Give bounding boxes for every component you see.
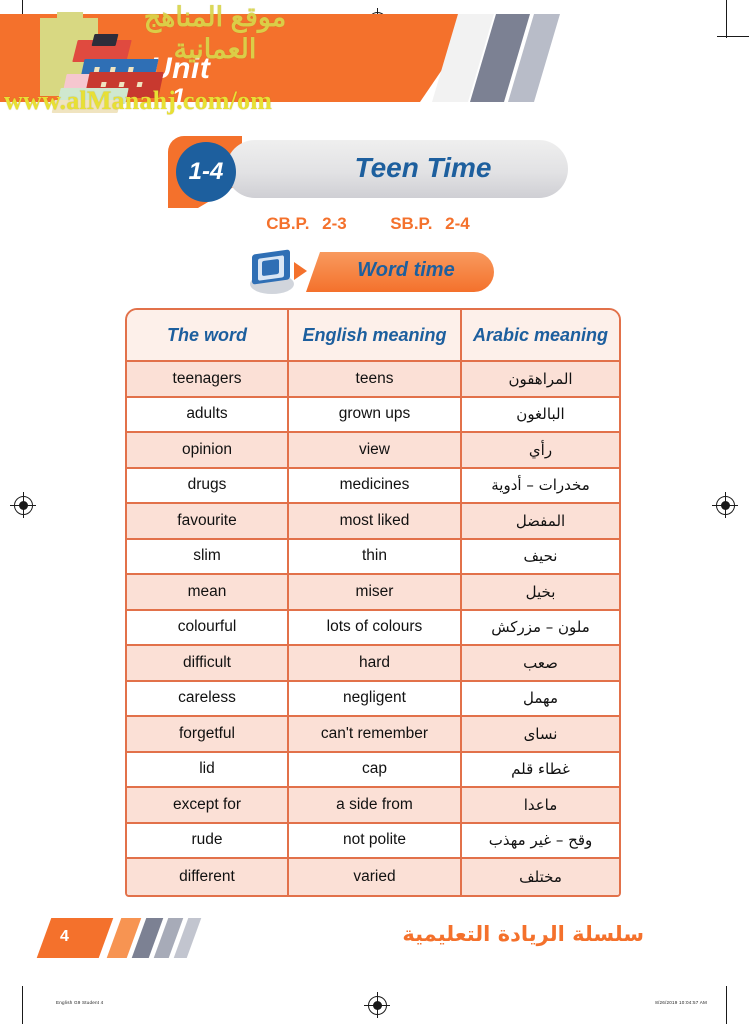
cell-arabic-meaning: مختلف: [462, 859, 619, 895]
cell-arabic-meaning: البالغون: [462, 398, 619, 434]
cell-arabic-meaning: ماعدا: [462, 788, 619, 824]
column-header-english-meaning: English meaning: [289, 310, 462, 362]
cell-english-meaning: hard: [289, 646, 462, 682]
crop-mark-top-right-v: [726, 0, 727, 38]
cell-the-word: opinion: [127, 433, 289, 469]
series-name-arabic: سلسلة الريادة التعليمية: [402, 922, 644, 946]
column-header-the-word: The word: [127, 310, 289, 362]
cell-english-meaning: lots of colours: [289, 611, 462, 647]
cell-the-word: lid: [127, 753, 289, 789]
cell-english-meaning: most liked: [289, 504, 462, 540]
crop-mark-top-right-h: [717, 36, 749, 37]
cell-arabic-meaning: المفضل: [462, 504, 619, 540]
cell-english-meaning: teens: [289, 362, 462, 398]
cell-the-word: careless: [127, 682, 289, 718]
cell-the-word: forgetful: [127, 717, 289, 753]
cell-english-meaning: not polite: [289, 824, 462, 860]
word-time-header: Word time: [248, 246, 548, 302]
cell-arabic-meaning: مهمل: [462, 682, 619, 718]
column-header-arabic-meaning: Arabic meaning: [462, 310, 619, 362]
table-row: forgetfulcan't rememberنساى: [127, 717, 619, 753]
cell-the-word: mean: [127, 575, 289, 611]
cell-the-word: teenagers: [127, 362, 289, 398]
table-row: slimthinنحيف: [127, 540, 619, 576]
open-book-icon: [248, 250, 296, 294]
cell-arabic-meaning: رأي: [462, 433, 619, 469]
cell-arabic-meaning: صعب: [462, 646, 619, 682]
table-header-row: The word English meaning Arabic meaning: [127, 310, 619, 362]
cb-pages: 2-3: [322, 214, 347, 233]
table-row: adultsgrown upsالبالغون: [127, 398, 619, 434]
page-number: 4: [60, 928, 69, 946]
cell-arabic-meaning: مخدرات – أدوية: [462, 469, 619, 505]
cell-the-word: adults: [127, 398, 289, 434]
cell-the-word: slim: [127, 540, 289, 576]
print-slug-left: English G9 Student 4: [56, 1000, 103, 1005]
cell-english-meaning: negligent: [289, 682, 462, 718]
registration-mark-bottom: [368, 996, 387, 1015]
lesson-number-badge: 1-4: [176, 142, 236, 202]
cell-arabic-meaning: وقح – غير مهذب: [462, 824, 619, 860]
arrow-right-icon: [294, 262, 307, 280]
khaki-block-top: [57, 12, 83, 32]
table-row: lidcapغطاء قلم: [127, 753, 619, 789]
table-row: favouritemost likedالمفضل: [127, 504, 619, 540]
table-row: differentvariedمختلف: [127, 859, 619, 895]
sb-label: SB.P.: [390, 214, 432, 233]
print-slug-right: 8/26/2019 10:04:57 AM: [655, 1000, 707, 1005]
footer-stripe-orange: [37, 918, 114, 958]
cell-the-word: difficult: [127, 646, 289, 682]
cell-the-word: rude: [127, 824, 289, 860]
cell-the-word: colourful: [127, 611, 289, 647]
table-row: drugsmedicinesمخدرات – أدوية: [127, 469, 619, 505]
table-row: except fora side fromماعدا: [127, 788, 619, 824]
coursebook-page-refs: CB.P. 2-3 SB.P. 2-4: [168, 214, 568, 234]
cell-english-meaning: grown ups: [289, 398, 462, 434]
crop-mark-bottom-left-v: [22, 986, 23, 1024]
registration-mark-left: [14, 496, 33, 515]
book-inner: [262, 259, 279, 276]
table-row: difficulthardصعب: [127, 646, 619, 682]
table-row: meanmiserبخيل: [127, 575, 619, 611]
cell-english-meaning: varied: [289, 859, 462, 895]
cell-arabic-meaning: غطاء قلم: [462, 753, 619, 789]
section-title: Word time: [326, 259, 486, 282]
cell-english-meaning: miser: [289, 575, 462, 611]
cell-english-meaning: thin: [289, 540, 462, 576]
sb-pages: 2-4: [445, 214, 470, 233]
watermark-arabic: موقع المناهج العمانية: [100, 2, 330, 66]
table-row: teenagersteensالمراهقون: [127, 362, 619, 398]
cell-arabic-meaning: المراهقون: [462, 362, 619, 398]
cb-label: CB.P.: [266, 214, 309, 233]
page-title: Teen Time: [288, 152, 558, 184]
lesson-title-bar: 1-4 Teen Time: [168, 136, 568, 208]
cell-arabic-meaning: ملون – مزركش: [462, 611, 619, 647]
cell-english-meaning: a side from: [289, 788, 462, 824]
table-row: opinionviewرأي: [127, 433, 619, 469]
cell-english-meaning: medicines: [289, 469, 462, 505]
table-row: rudenot politeوقح – غير مهذب: [127, 824, 619, 860]
crop-mark-bottom-right-v: [726, 986, 727, 1024]
cell-the-word: different: [127, 859, 289, 895]
cell-the-word: except for: [127, 788, 289, 824]
cell-english-meaning: view: [289, 433, 462, 469]
cell-english-meaning: cap: [289, 753, 462, 789]
cell-arabic-meaning: نحيف: [462, 540, 619, 576]
cell-the-word: drugs: [127, 469, 289, 505]
vocabulary-table-body: teenagersteensالمراهقونadultsgrown upsال…: [127, 362, 619, 895]
cell-the-word: favourite: [127, 504, 289, 540]
cell-arabic-meaning: نساى: [462, 717, 619, 753]
cell-arabic-meaning: بخيل: [462, 575, 619, 611]
vocabulary-table: The word English meaning Arabic meaning …: [125, 308, 621, 897]
cell-english-meaning: can't remember: [289, 717, 462, 753]
watermark-url: www.alManahj.com/om: [4, 86, 272, 116]
table-row: carelessnegligentمهمل: [127, 682, 619, 718]
table-row: colourfullots of coloursملون – مزركش: [127, 611, 619, 647]
registration-mark-right: [716, 496, 735, 515]
